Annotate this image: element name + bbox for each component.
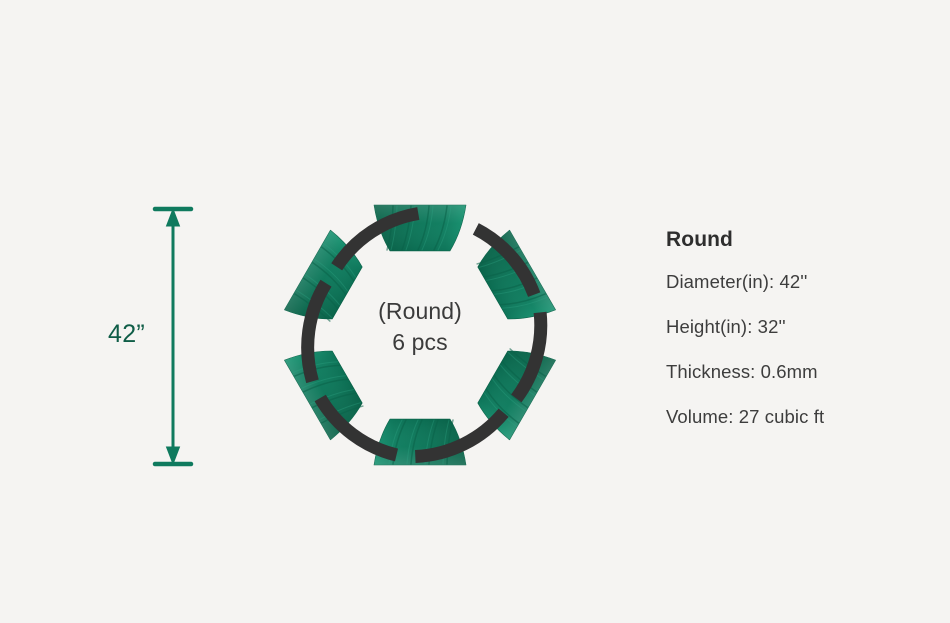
spec-panel: Round Diameter(in): 42'' Height(in): 32'… [666, 228, 936, 428]
panel-group [284, 205, 555, 465]
spec-title: Round [666, 228, 936, 252]
spec-row-thickness: Thickness: 0.6mm [666, 361, 936, 383]
dimension-arrow-top [167, 209, 180, 226]
dimension-arrow-bottom [167, 447, 180, 464]
dimension-line [155, 209, 191, 464]
panel-bottom-left [284, 337, 370, 440]
spec-row-volume: Volume: 27 cubic ft [666, 406, 936, 428]
spec-row-height: Height(in): 32'' [666, 316, 936, 338]
diagram-root: (Round) 6 pcs 42” Round Diameter(in): 42… [0, 0, 950, 623]
dimension-label: 42” [108, 320, 145, 349]
spec-row-diameter: Diameter(in): 42'' [666, 271, 936, 293]
